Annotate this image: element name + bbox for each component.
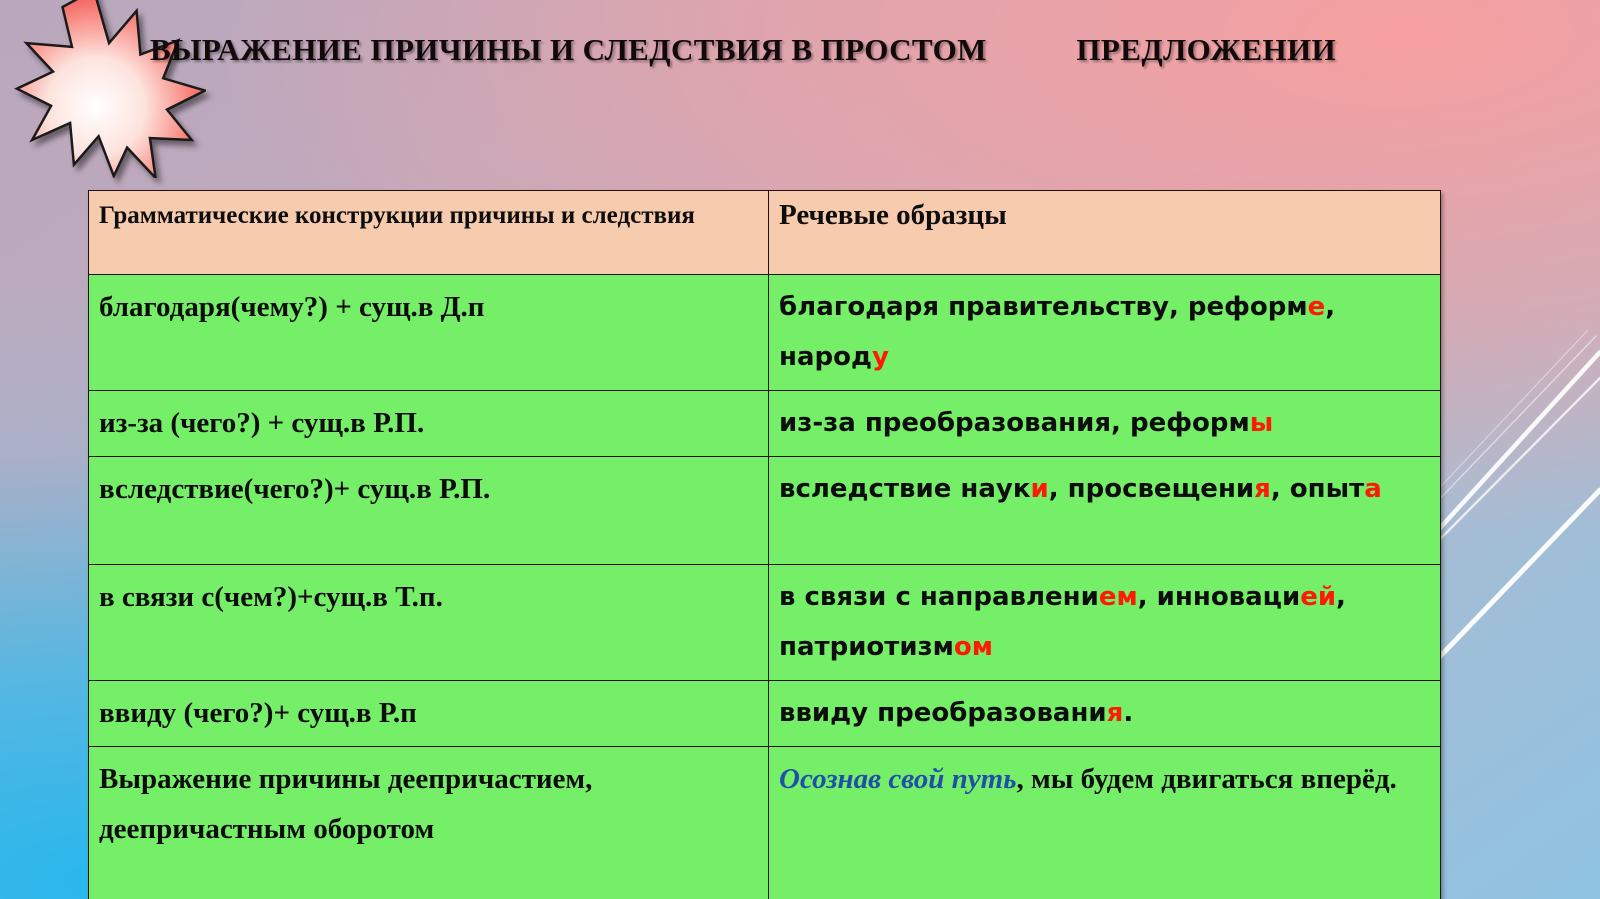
construction-text: вследствие(чего?)+ сущ.в Р.П. <box>99 464 758 514</box>
cell-sample: ввиду преобразования. <box>769 681 1441 747</box>
table-row: из-за (чего?) + сущ.в Р.П.из-за преобраз… <box>89 391 1441 457</box>
cell-construction: благодаря(чему?) + сущ.в Д.п <box>89 275 769 391</box>
sample-fragment: , мы будем двигаться вперёд. <box>1016 763 1396 795</box>
construction-text: из-за (чего?) + сущ.в Р.П. <box>99 398 758 448</box>
cell-sample: вследствие науки, просвещения, опыта <box>769 457 1441 565</box>
highlighted-ending: ем <box>1099 582 1138 612</box>
slide-canvas: ВЫРАЖЕНИЕ ПРИЧИНЫ И СЛЕДСТВИЯ В ПРОСТОМ … <box>0 0 1600 899</box>
cell-construction: Выражение причины деепричастием, дееприч… <box>89 747 769 899</box>
sample-text: благодаря правительству, реформе, народу <box>779 282 1430 382</box>
header-cell-constructions: Грамматические конструкции причины и сле… <box>89 191 769 275</box>
highlighted-ending: у <box>872 342 889 372</box>
sample-fragment: из-за преобразования, реформ <box>779 408 1250 438</box>
sample-fragment: вследствие наук <box>779 474 1030 504</box>
highlighted-ending: я <box>1254 474 1271 504</box>
table-row: Выражение причины деепричастием, дееприч… <box>89 747 1441 899</box>
header-label-samples: Речевые образцы <box>779 198 1430 233</box>
sample-fragment: в связи с направлени <box>779 582 1099 612</box>
grammar-table-container: Грамматические конструкции причины и сле… <box>88 190 1440 899</box>
header-cell-samples: Речевые образцы <box>769 191 1441 275</box>
highlighted-ending: ей <box>1300 582 1336 612</box>
sample-fragment: , инноваци <box>1138 582 1300 612</box>
sample-text: вследствие науки, просвещения, опыта <box>779 464 1430 514</box>
sample-text: из-за преобразования, реформы <box>779 398 1430 448</box>
highlighted-ending: и <box>1030 474 1048 504</box>
cell-sample: в связи с направлением, инновацией, патр… <box>769 565 1441 681</box>
sample-text: в связи с направлением, инновацией, патр… <box>779 572 1430 672</box>
cell-sample: Осознав свой путь, мы будем двигаться вп… <box>769 747 1441 899</box>
construction-text: Выражение причины деепричастием, дееприч… <box>99 754 758 854</box>
sample-fragment: ввиду преобразовани <box>779 698 1107 728</box>
cell-construction: ввиду (чего?)+ сущ.в Р.п <box>89 681 769 747</box>
starburst-icon <box>14 0 206 178</box>
construction-text: ввиду (чего?)+ сущ.в Р.п <box>99 688 758 738</box>
sample-text: Осознав свой путь, мы будем двигаться вп… <box>779 754 1430 804</box>
table-header-row: Грамматические конструкции причины и сле… <box>89 191 1441 275</box>
sample-fragment: , просвещени <box>1049 474 1254 504</box>
sample-fragment: , опыт <box>1271 474 1364 504</box>
construction-text: в связи с(чем?)+сущ.в Т.п. <box>99 572 758 622</box>
highlighted-ending: ы <box>1250 408 1274 438</box>
cell-construction: в связи с(чем?)+сущ.в Т.п. <box>89 565 769 681</box>
table-row: в связи с(чем?)+сущ.в Т.п.в связи с напр… <box>89 565 1441 681</box>
cell-construction: вследствие(чего?)+ сущ.в Р.П. <box>89 457 769 565</box>
table-row: благодаря(чему?) + сущ.в Д.пблагодаря пр… <box>89 275 1441 391</box>
header-label-constructions: Грамматические конструкции причины и сле… <box>99 198 758 233</box>
grammar-table: Грамматические конструкции причины и сле… <box>88 190 1441 899</box>
highlighted-ending: ом <box>954 632 993 662</box>
italic-phrase: Осознав свой путь <box>779 763 1016 795</box>
highlighted-ending: а <box>1364 474 1382 504</box>
highlighted-ending: я <box>1107 698 1124 728</box>
cell-construction: из-за (чего?) + сущ.в Р.П. <box>89 391 769 457</box>
sample-text: ввиду преобразования. <box>779 688 1430 738</box>
cell-sample: благодаря правительству, реформе, народу <box>769 275 1441 391</box>
sample-fragment: . <box>1123 698 1133 728</box>
slide-title: ВЫРАЖЕНИЕ ПРИЧИНЫ И СЛЕДСТВИЯ В ПРОСТОМ … <box>150 32 1470 68</box>
cell-sample: из-за преобразования, реформы <box>769 391 1441 457</box>
highlighted-ending: е <box>1308 292 1326 322</box>
sample-fragment: благодаря правительству, реформ <box>779 292 1308 322</box>
construction-text: благодаря(чему?) + сущ.в Д.п <box>99 282 758 332</box>
table-body: благодаря(чему?) + сущ.в Д.пблагодаря пр… <box>89 275 1441 899</box>
table-row: вследствие(чего?)+ сущ.в Р.П.вследствие … <box>89 457 1441 565</box>
table-row: ввиду (чего?)+ сущ.в Р.пввиду преобразов… <box>89 681 1441 747</box>
